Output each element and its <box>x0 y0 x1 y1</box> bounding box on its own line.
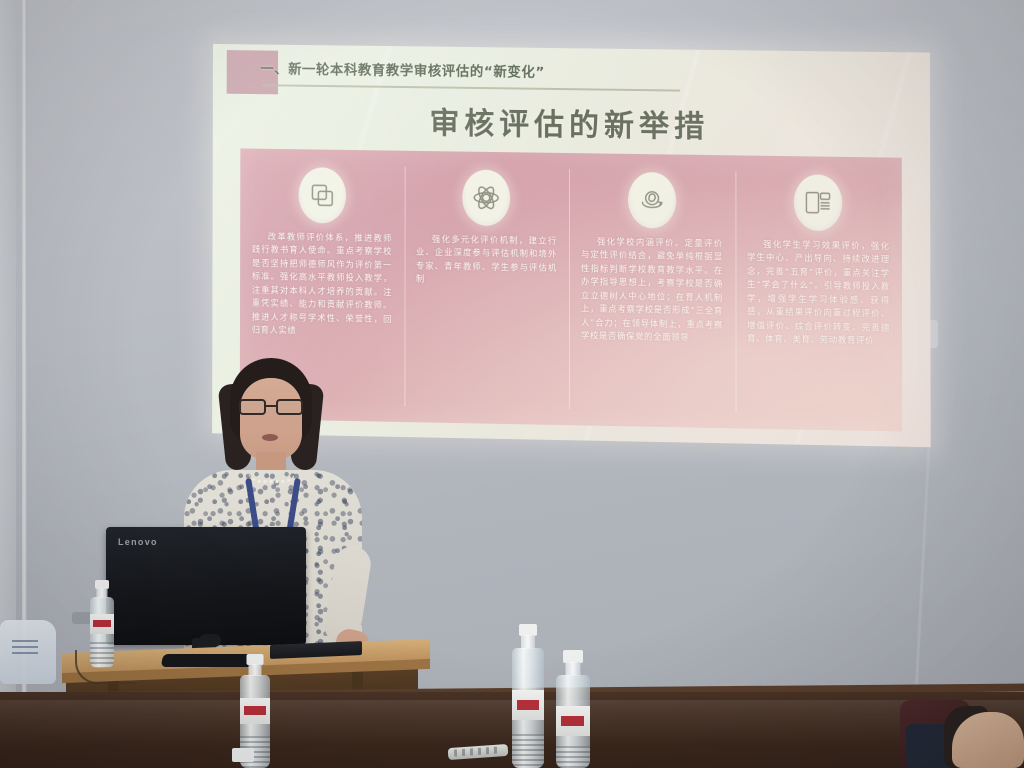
wall-panel-edge <box>0 0 16 700</box>
presenter-mouth <box>262 434 278 441</box>
bottle-neck <box>521 635 535 649</box>
lecture-room-scene: 一、新一轮本科教育教学审核评估的“新变化” 审核评估的新举措 改革教师评价体系，… <box>0 0 1024 768</box>
wall-seam <box>22 0 27 700</box>
bottle-ridges <box>512 734 544 768</box>
slide-column-2: 强化多元化评价机制，建立行业、企业深度参与评估机制和境外专家、青年教师、学生参与… <box>404 151 569 425</box>
glasses-lens-left <box>239 399 266 415</box>
slide-column-3: 强化学校内涵评价。定量评价与定性评价结合，避免单纯根据显性指标判断学校教育教学水… <box>569 153 735 428</box>
wall-hook <box>72 612 92 624</box>
computer-mouse <box>199 634 221 647</box>
bag-print <box>12 640 38 656</box>
water-bottle-front-right <box>556 650 590 768</box>
book-lines-icon <box>794 174 842 231</box>
slide-section-header: 一、新一轮本科教育教学审核评估的“新变化” <box>260 52 688 87</box>
slide-title: 审核评估的新举措 <box>213 95 930 149</box>
bottle-ridges <box>556 746 590 768</box>
pearl-necklace <box>248 470 296 483</box>
bottle-ridges <box>90 642 114 668</box>
bottle-label-accent <box>561 716 584 726</box>
presenter-face <box>240 378 302 460</box>
presenter-glasses <box>239 399 303 415</box>
slide-column-4-text: 强化学生学习效果评价，强化学生中心、产出导向、持续改进理念，完善“五育”评价，重… <box>747 238 890 348</box>
globe-orbit-icon <box>628 172 676 229</box>
slide-column-2-text: 强化多元化评价机制，建立行业、企业深度参与评估机制和境外专家、青年教师、学生参与… <box>416 233 557 289</box>
glasses-lens-right <box>276 399 303 415</box>
water-bottle-front-mid <box>512 624 544 768</box>
water-bottle-desk <box>90 580 114 668</box>
bottle-label-accent <box>93 620 111 627</box>
bottle-label-accent <box>244 706 266 715</box>
water-bottle-front-bottom <box>228 748 258 768</box>
atom-icon <box>463 170 511 227</box>
audience-member-head <box>952 712 1024 768</box>
bottle-cap <box>232 748 254 762</box>
slide-column-3-text: 强化学校内涵评价。定量评价与定性评价结合，避免单纯根据显性指标判断学校教育教学水… <box>581 235 723 345</box>
overlapping-squares-icon <box>298 167 346 223</box>
slide-section-header-text: 一、新一轮本科教育教学审核评估的“新变化” <box>260 57 545 80</box>
bottle-label-accent <box>517 700 539 710</box>
glasses-bridge <box>266 405 276 407</box>
bottle-neck <box>566 662 581 676</box>
slide-column-1-text: 改革教师评价体系，推进教师践行教书育人使命。重点考察学校是否坚持把师德师风作为评… <box>252 230 392 339</box>
slide-column-4: 强化学生学习效果评价，强化学生中心、产出导向、持续改进理念，完善“五育”评价，重… <box>735 155 902 431</box>
monitor-brand-label: Lenovo <box>118 537 158 547</box>
